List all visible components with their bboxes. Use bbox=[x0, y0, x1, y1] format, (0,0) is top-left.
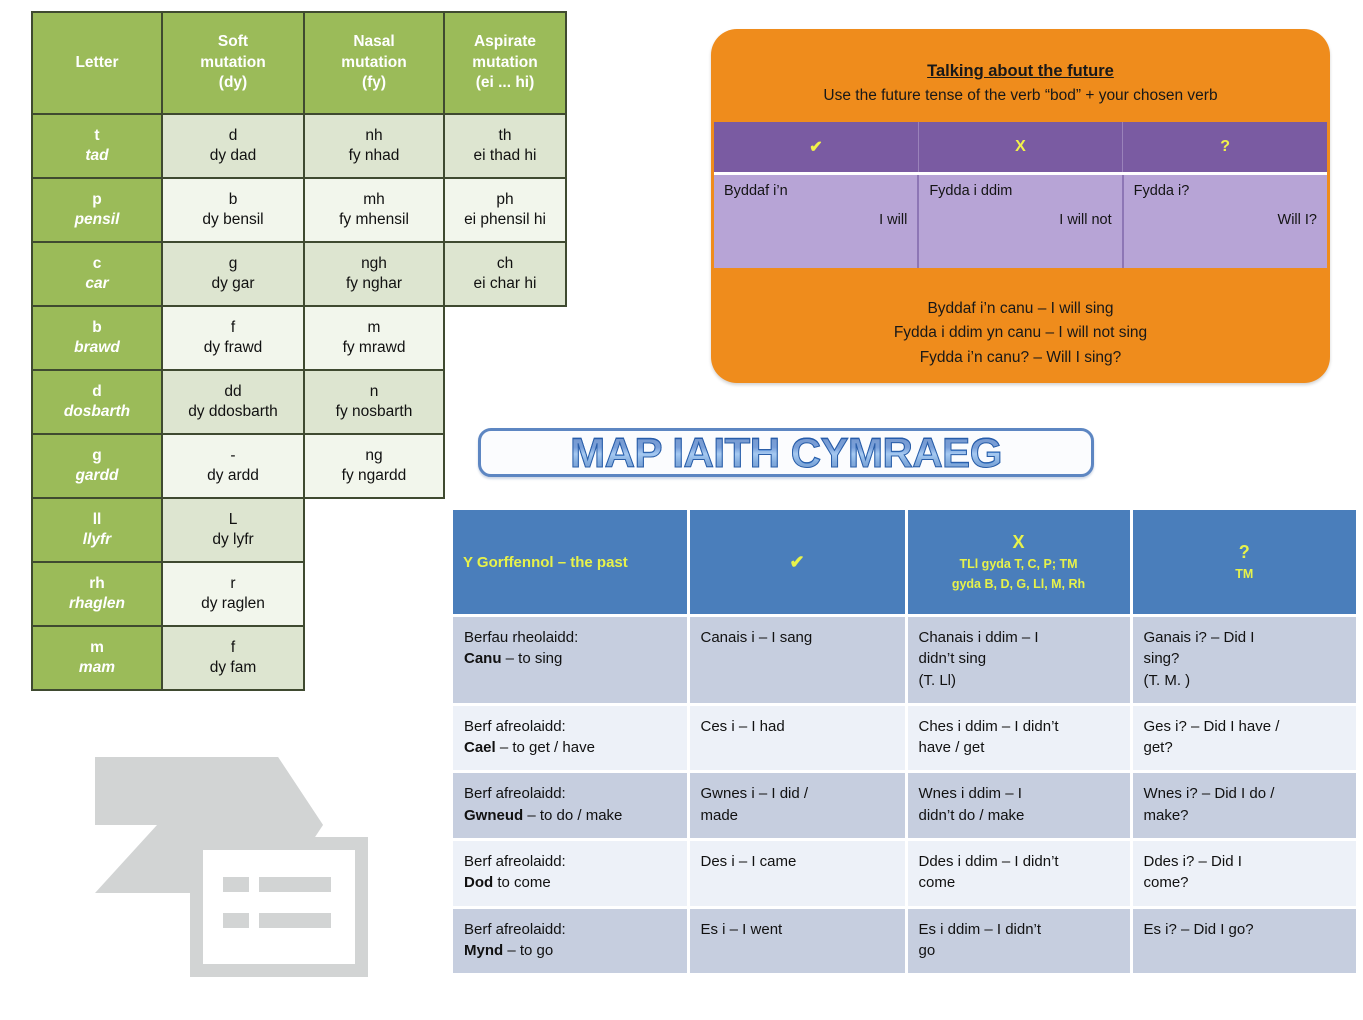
past-negative-cell: Wnes i ddim – I didn’t do / make bbox=[906, 772, 1131, 840]
past-question-cell: Wnes i? – Did I do / make? bbox=[1131, 772, 1356, 840]
mutation-nasal-cell: ngh fy nghar bbox=[304, 242, 444, 306]
mutation-soft-cell: dd dy ddosbarth bbox=[162, 370, 304, 434]
verb-translation: to come bbox=[493, 874, 551, 891]
future-table-header-row: ✔ X ? bbox=[714, 122, 1327, 174]
mutation-empty-cell bbox=[444, 370, 566, 434]
table-row: p pensil b dy bensil mh fy mhensil ph ei… bbox=[32, 178, 566, 242]
verb-translation: – to go bbox=[503, 942, 553, 959]
mutation-header-aspirate: Aspirate mutation (ei ... hi) bbox=[444, 12, 566, 114]
mutation-letter-cell: t tad bbox=[32, 114, 162, 178]
past-verb-cell: Berfau rheolaidd: Canu – to sing bbox=[453, 616, 688, 705]
mutation-soft-cell: b dy bensil bbox=[162, 178, 304, 242]
verb-name: Canu bbox=[464, 650, 502, 667]
past-question-cell: Ganais i? – Did I sing? (T. M. ) bbox=[1131, 616, 1356, 705]
mutation-header-letter: Letter bbox=[32, 12, 162, 114]
mutation-soft-cell: g dy gar bbox=[162, 242, 304, 306]
past-verb-cell: Berf afreolaidd: Cael – to get / have bbox=[453, 704, 688, 772]
verb-name: Mynd bbox=[464, 942, 503, 959]
past-tense-table: Y Gorffennol – the past ✔ X TLl gyda T, … bbox=[453, 510, 1356, 976]
verb-translation: – to do / make bbox=[523, 807, 622, 824]
verb-translation: – to get / have bbox=[496, 739, 595, 756]
table-row: b brawd f dy frawd m fy mrawd bbox=[32, 306, 566, 370]
table-row: c car g dy gar ngh fy nghar ch ei char h… bbox=[32, 242, 566, 306]
mutation-nasal-cell: n fy nosbarth bbox=[304, 370, 444, 434]
past-verb-cell: Berf afreolaidd: Gwneud – to do / make bbox=[453, 772, 688, 840]
past-header-affirmative: ✔ bbox=[688, 510, 906, 616]
future-example-line: Fydda i’n canu? – Will I sing? bbox=[711, 346, 1330, 370]
mutation-soft-cell: f dy frawd bbox=[162, 306, 304, 370]
past-negative-cell: Ches i ddim – I didn’t have / get bbox=[906, 704, 1131, 772]
mutation-empty-cell bbox=[304, 498, 444, 562]
mutation-letter-cell: g gardd bbox=[32, 434, 162, 498]
mutation-soft-cell: L dy lyfr bbox=[162, 498, 304, 562]
past-affirmative-cell: Gwnes i – I did / made bbox=[688, 772, 906, 840]
past-affirmative-cell: Canais i – I sang bbox=[688, 616, 906, 705]
mutation-letter-cell: d dosbarth bbox=[32, 370, 162, 434]
table-row: t tad d dy dad nh fy nhad th ei thad hi bbox=[32, 114, 566, 178]
mutation-empty-cell bbox=[304, 562, 444, 626]
future-cell-negative: Fydda i ddim I will not bbox=[918, 174, 1122, 269]
future-header-negative: X bbox=[918, 122, 1122, 174]
verb-translation: – to sing bbox=[502, 650, 563, 667]
page-title: MAP IAITH CYMRAEG bbox=[481, 429, 1091, 477]
past-question-cell: Ges i? – Did I have / get? bbox=[1131, 704, 1356, 772]
past-question-cell: Es i? – Did I go? bbox=[1131, 907, 1356, 975]
table-row: Berf afreolaidd: Cael – to get / have Ce… bbox=[453, 704, 1356, 772]
past-affirmative-cell: Des i – I came bbox=[688, 840, 906, 908]
future-panel-subtitle: Use the future tense of the verb “bod” +… bbox=[711, 87, 1330, 105]
table-row: d dosbarth dd dy ddosbarth n fy nosbarth bbox=[32, 370, 566, 434]
mutation-letter-cell: rh rhaglen bbox=[32, 562, 162, 626]
table-row: Berf afreolaidd: Gwneud – to do / make G… bbox=[453, 772, 1356, 840]
verb-name: Cael bbox=[464, 739, 496, 756]
mutation-letter-cell: ll llyfr bbox=[32, 498, 162, 562]
verb-name: Dod bbox=[464, 874, 493, 891]
future-cell-affirmative: Byddaf i’n I will bbox=[714, 174, 918, 269]
mutation-aspirate-cell: ch ei char hi bbox=[444, 242, 566, 306]
mutation-header-soft: Soft mutation (dy) bbox=[162, 12, 304, 114]
mutation-nasal-cell: mh fy mhensil bbox=[304, 178, 444, 242]
mutation-letter-cell: m mam bbox=[32, 626, 162, 690]
past-affirmative-cell: Es i – I went bbox=[688, 907, 906, 975]
past-question-cell: Ddes i? – Did I come? bbox=[1131, 840, 1356, 908]
future-header-affirmative: ✔ bbox=[714, 122, 918, 174]
mutation-aspirate-cell: ph ei phensil hi bbox=[444, 178, 566, 242]
future-example-line: Fydda i ddim yn canu – I will not sing bbox=[711, 321, 1330, 345]
verb-name: Gwneud bbox=[464, 807, 523, 824]
mutation-soft-cell: r dy raglen bbox=[162, 562, 304, 626]
mutation-nasal-cell: m fy mrawd bbox=[304, 306, 444, 370]
past-verb-cell: Berf afreolaidd: Mynd – to go bbox=[453, 907, 688, 975]
past-negative-cell: Ddes i ddim – I didn’t come bbox=[906, 840, 1131, 908]
mutation-nasal-cell: ng fy ngardd bbox=[304, 434, 444, 498]
future-panel-title: Talking about the future bbox=[711, 62, 1330, 81]
table-row: Berf afreolaidd: Dod to come Des i – I c… bbox=[453, 840, 1356, 908]
past-header-label: Y Gorffennol – the past bbox=[453, 510, 688, 616]
mutation-table-header-row: Letter Soft mutation (dy) Nasal mutation… bbox=[32, 12, 566, 114]
past-affirmative-cell: Ces i – I had bbox=[688, 704, 906, 772]
future-tense-panel: Talking about the future Use the future … bbox=[711, 29, 1330, 383]
mutation-aspirate-cell: th ei thad hi bbox=[444, 114, 566, 178]
mutation-empty-cell bbox=[304, 626, 444, 690]
mutation-nasal-cell: nh fy nhad bbox=[304, 114, 444, 178]
past-negative-cell: Es i ddim – I didn’t go bbox=[906, 907, 1131, 975]
future-tense-table: ✔ X ? Byddaf i’n I will Fydda i ddim I w… bbox=[714, 122, 1327, 268]
mutation-header-nasal: Nasal mutation (fy) bbox=[304, 12, 444, 114]
future-examples: Byddaf i’n canu – I will sing Fydda i dd… bbox=[711, 297, 1330, 370]
future-cell-question: Fydda i? Will I? bbox=[1123, 174, 1327, 269]
table-row: Byddaf i’n I will Fydda i ddim I will no… bbox=[714, 174, 1327, 269]
mutation-letter-cell: p pensil bbox=[32, 178, 162, 242]
table-row: Berf afreolaidd: Mynd – to go Es i – I w… bbox=[453, 907, 1356, 975]
mutation-letter-cell: c car bbox=[32, 242, 162, 306]
mutation-soft-cell: d dy dad bbox=[162, 114, 304, 178]
future-header-question: ? bbox=[1123, 122, 1327, 174]
table-row: Berfau rheolaidd: Canu – to sing Canais … bbox=[453, 616, 1356, 705]
past-negative-cell: Chanais i ddim – I didn’t sing (T. Ll) bbox=[906, 616, 1131, 705]
past-verb-cell: Berf afreolaidd: Dod to come bbox=[453, 840, 688, 908]
mutation-letter-cell: b brawd bbox=[32, 306, 162, 370]
mutation-soft-cell: - dy ardd bbox=[162, 434, 304, 498]
missing-content-placeholder-icon bbox=[95, 757, 420, 985]
page-title-banner: MAP IAITH CYMRAEG bbox=[478, 428, 1094, 477]
past-table-header-row: Y Gorffennol – the past ✔ X TLl gyda T, … bbox=[453, 510, 1356, 616]
future-example-line: Byddaf i’n canu – I will sing bbox=[711, 297, 1330, 321]
past-header-question: ? TM bbox=[1131, 510, 1356, 616]
mutation-empty-cell bbox=[444, 306, 566, 370]
past-header-negative: X TLl gyda T, C, P; TM gyda B, D, G, Ll,… bbox=[906, 510, 1131, 616]
mutation-soft-cell: f dy fam bbox=[162, 626, 304, 690]
